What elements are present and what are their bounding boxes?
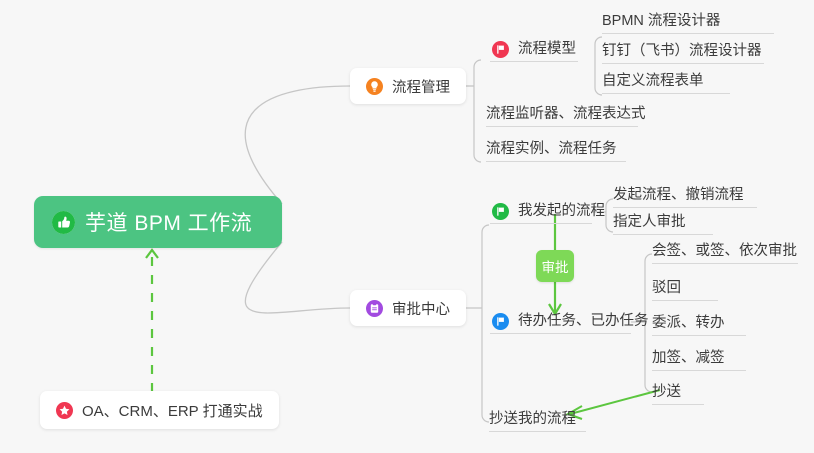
annotation-approval-label: 审批 — [542, 256, 569, 276]
link-process-management-vertical — [474, 60, 481, 162]
leaf-label-bpmn-designer: BPMN 流程设计器 — [602, 14, 720, 30]
leaf-label-carbon-copy: 抄送 — [652, 385, 681, 401]
leaf-add-remove-sign[interactable]: 加签、减签 — [652, 349, 746, 371]
clipboard-icon — [366, 300, 383, 317]
branch-node-approval-center[interactable]: 审批中心 — [350, 290, 466, 326]
lightbulb-icon — [366, 78, 383, 95]
leaf-label-reject: 驳回 — [652, 281, 681, 297]
leaf-reject[interactable]: 驳回 — [652, 279, 718, 301]
leaf-dingtalk-feishu-designer[interactable]: 钉钉（飞书）流程设计器 — [602, 42, 764, 64]
leaf-process-model[interactable]: 流程模型 — [490, 40, 578, 62]
leaf-label-cc-to-me: 抄送我的流程 — [489, 412, 576, 428]
flag-icon — [492, 203, 509, 220]
leaf-cc-to-me[interactable]: 抄送我的流程 — [489, 410, 586, 432]
bottom-note-label: OA、CRM、ERP 打通实战 — [82, 400, 263, 421]
leaf-bpmn-designer[interactable]: BPMN 流程设计器 — [602, 12, 774, 34]
leaf-countersign[interactable]: 会签、或签、依次审批 — [652, 242, 798, 264]
leaf-carbon-copy[interactable]: 抄送 — [652, 383, 704, 405]
flag-icon — [492, 41, 509, 58]
leaf-custom-process-form[interactable]: 自定义流程表单 — [602, 72, 730, 94]
link-approval-center-vertical — [482, 225, 489, 422]
link-root-to-process-management — [245, 86, 350, 204]
leaf-delegate-transfer[interactable]: 委派、转办 — [652, 314, 746, 336]
leaf-start-cancel-process[interactable]: 发起流程、撤销流程 — [613, 186, 757, 208]
branch-node-process-management[interactable]: 流程管理 — [350, 68, 466, 104]
leaf-label-dingtalk-feishu-designer: 钉钉（飞书）流程设计器 — [602, 44, 762, 60]
leaf-my-initiated[interactable]: 我发起的流程 — [490, 202, 592, 224]
annotation-approval-badge[interactable]: 审批 — [536, 250, 574, 282]
star-icon — [56, 402, 73, 419]
leaf-todo-done-tasks[interactable]: 待办任务、已办任务 — [490, 312, 631, 334]
leaf-label-countersign: 会签、或签、依次审批 — [652, 244, 797, 260]
leaf-assignee-approval[interactable]: 指定人审批 — [613, 213, 713, 235]
leaf-label-start-cancel-process: 发起流程、撤销流程 — [613, 188, 744, 204]
root-node[interactable]: 芋道 BPM 工作流 — [34, 196, 282, 248]
leaf-label-process-instance: 流程实例、流程任务 — [486, 142, 617, 158]
leaf-label-assignee-approval: 指定人审批 — [613, 215, 686, 231]
root-label: 芋道 BPM 工作流 — [85, 207, 252, 237]
leaf-label-custom-process-form: 自定义流程表单 — [602, 74, 704, 90]
link-my-initiated-vertical — [606, 199, 613, 232]
leaf-label-process-model: 流程模型 — [518, 42, 576, 58]
leaf-process-instance[interactable]: 流程实例、流程任务 — [486, 140, 626, 162]
thumbs-up-icon — [52, 211, 75, 234]
bottom-note-node[interactable]: OA、CRM、ERP 打通实战 — [40, 391, 279, 429]
leaf-label-process-listener: 流程监听器、流程表达式 — [486, 107, 646, 123]
leaf-label-todo-done-tasks: 待办任务、已办任务 — [518, 314, 649, 330]
leaf-label-add-remove-sign: 加签、减签 — [652, 351, 725, 367]
leaf-label-my-initiated: 我发起的流程 — [518, 204, 605, 220]
mindmap-canvas: 芋道 BPM 工作流 流程管理 流程模型 — [0, 0, 814, 453]
link-root-to-approval-center — [245, 242, 350, 313]
branch-label-approval-center: 审批中心 — [392, 298, 450, 319]
link-process-model-vertical — [595, 37, 602, 95]
branch-label-process-management: 流程管理 — [392, 76, 450, 97]
arrow-head-to-root — [146, 250, 158, 258]
flag-icon — [492, 313, 509, 330]
leaf-process-listener[interactable]: 流程监听器、流程表达式 — [486, 105, 638, 127]
leaf-label-delegate-transfer: 委派、转办 — [652, 316, 725, 332]
